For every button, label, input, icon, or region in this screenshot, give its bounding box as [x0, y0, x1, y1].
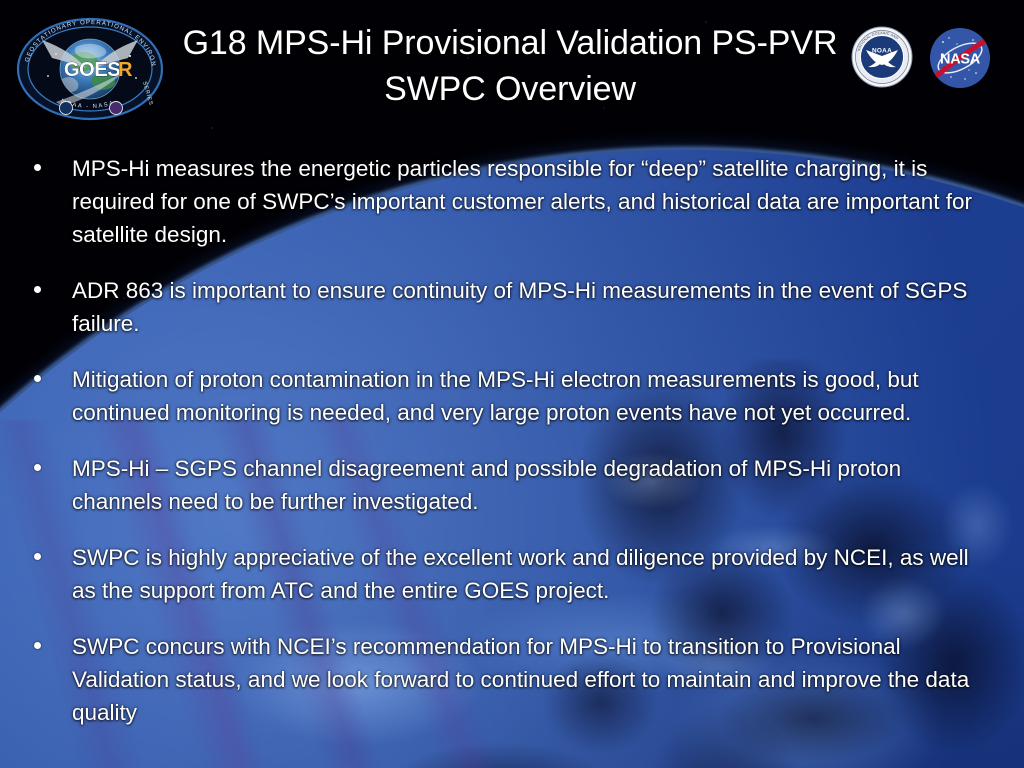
bullet-text: ADR 863 is important to ensure continuit…: [72, 274, 986, 340]
bullet-text: SWPC concurs with NCEI’s recommendation …: [72, 630, 986, 729]
bullet-marker-icon: [34, 164, 41, 171]
svg-text:GOES: GOES: [64, 59, 120, 81]
nasa-logo: NASA: [929, 27, 991, 89]
svg-text:R: R: [118, 59, 133, 81]
bullet-item: SWPC concurs with NCEI’s recommendation …: [0, 630, 1024, 729]
bullet-text: SWPC is highly appreciative of the excel…: [72, 541, 986, 607]
bullet-text: MPS-Hi measures the energetic particles …: [72, 152, 986, 251]
bullet-marker-icon: [34, 642, 41, 649]
bullet-item: Mitigation of proton contamination in th…: [0, 363, 1024, 429]
presentation-slide: GEOSTATIONARY OPERATIONAL ENVIRONMENTAL …: [0, 0, 1024, 768]
bullet-marker-icon: [34, 553, 41, 560]
bullet-item: MPS-Hi measures the energetic particles …: [0, 152, 1024, 251]
bullet-item: SWPC is highly appreciative of the excel…: [0, 541, 1024, 607]
slide-title: G18 MPS-Hi Provisional Validation PS-PVR…: [140, 20, 880, 112]
svg-text:NASA: NASA: [940, 52, 981, 68]
slide-title-line-2: SWPC Overview: [140, 66, 880, 112]
bullet-text: MPS-Hi – SGPS channel disagreement and p…: [72, 452, 986, 518]
bullet-text: Mitigation of proton contamination in th…: [72, 363, 986, 429]
bullet-marker-icon: [34, 464, 41, 471]
bullet-marker-icon: [34, 286, 41, 293]
bullet-item: MPS-Hi – SGPS channel disagreement and p…: [0, 452, 1024, 518]
bullet-marker-icon: [34, 375, 41, 382]
slide-body: MPS-Hi measures the energetic particles …: [0, 152, 1024, 729]
slide-title-line-1: G18 MPS-Hi Provisional Validation PS-PVR: [140, 20, 880, 66]
bullet-item: ADR 863 is important to ensure continuit…: [0, 274, 1024, 340]
